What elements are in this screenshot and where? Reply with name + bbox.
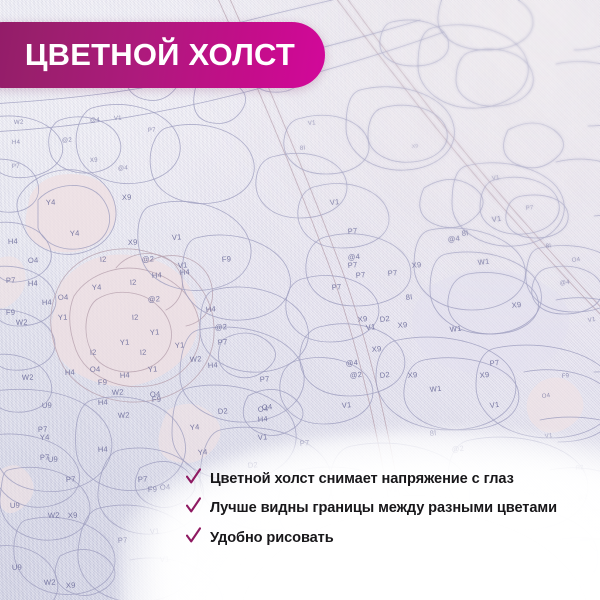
region-code: H4: [98, 444, 109, 454]
region-code: @4: [347, 252, 360, 262]
region-code: X9: [511, 300, 522, 310]
feature-label: Удобно рисовать: [210, 529, 334, 547]
feature-item: Удобно рисовать: [186, 525, 586, 547]
region-code: P7: [489, 358, 500, 368]
check-icon: [186, 468, 201, 485]
region-code: Y1: [175, 340, 185, 350]
region-code: V1: [365, 322, 376, 332]
region-code: P7: [148, 127, 157, 134]
region-code: X9: [68, 511, 78, 520]
region-code: U9: [12, 563, 22, 572]
region-code: W2: [112, 387, 124, 397]
region-code: F9: [6, 308, 16, 317]
banner-pill: ЦВЕТНОЙ ХОЛСТ: [0, 22, 325, 88]
region-code: I2: [100, 255, 107, 264]
region-code: @2: [142, 254, 155, 264]
region-code: O4: [28, 256, 39, 265]
region-code: F9: [561, 372, 570, 380]
region-code: @2: [214, 322, 227, 332]
region-code: O4: [261, 402, 272, 412]
check-icon: [186, 497, 201, 514]
region-code: U9: [10, 501, 20, 510]
region-code: V1: [544, 432, 553, 440]
region-code: Y4: [198, 447, 208, 457]
feature-label: Лучше видны границы между разными цветам…: [210, 499, 557, 517]
region-code: @2: [451, 444, 464, 454]
region-code: Y4: [46, 198, 56, 207]
region-code: Y1: [148, 364, 158, 374]
region-code: W1: [477, 257, 490, 267]
region-code: X9: [411, 260, 422, 270]
region-code: W2: [14, 119, 24, 126]
region-code: X9: [479, 370, 490, 380]
region-code: Y4: [40, 433, 50, 442]
region-code: Y4: [70, 229, 80, 238]
feature-item: Лучше видны границы между разными цветам…: [186, 495, 586, 517]
region-code: V1: [341, 400, 352, 410]
region-code: O4: [541, 392, 551, 400]
region-code: @2: [62, 137, 73, 144]
region-code: W2: [44, 578, 56, 587]
region-code: U9: [42, 401, 52, 410]
region-code: Y1: [150, 327, 160, 337]
check-icon: [186, 527, 201, 544]
region-code: X9: [397, 320, 408, 330]
region-code: H4: [180, 267, 191, 277]
region-code: P7: [118, 535, 128, 545]
region-code: 8I: [545, 242, 551, 250]
region-code: H4: [207, 360, 218, 370]
region-code: O4: [571, 256, 581, 264]
region-code: D2: [217, 406, 228, 416]
region-code: Y4: [92, 283, 102, 292]
region-code: W2: [118, 410, 130, 420]
region-code: V1: [150, 526, 160, 536]
banner-title: ЦВЕТНОЙ ХОЛСТ: [25, 39, 295, 70]
region-code: V1: [329, 197, 339, 207]
region-code: X9: [90, 157, 99, 164]
region-code: P7: [331, 282, 341, 292]
region-code: D2: [379, 370, 390, 380]
region-code: H4: [257, 414, 268, 424]
region-code: @2: [148, 294, 161, 304]
region-code: P7: [299, 438, 309, 448]
region-code: O4: [58, 293, 69, 302]
region-code: P7: [6, 276, 16, 285]
region-code: W2: [22, 373, 34, 382]
region-code: @4: [345, 358, 358, 368]
region-code: I2: [140, 348, 147, 357]
region-code: V1: [160, 554, 170, 564]
region-code: O4: [150, 389, 161, 399]
region-code: P7: [138, 474, 148, 484]
region-code: O4: [160, 482, 171, 492]
feature-label: Цветной холст снимает напряжение с глаз: [210, 470, 514, 488]
region-code: W2: [48, 510, 60, 520]
region-code: P7: [525, 204, 534, 212]
region-code: X9: [122, 192, 132, 202]
region-code: V1: [308, 119, 317, 127]
region-code: H4: [42, 298, 52, 307]
region-code: 8I: [405, 292, 413, 302]
region-code: P7: [40, 453, 50, 462]
region-code: Y1: [58, 313, 68, 322]
region-code: Y1: [120, 337, 130, 347]
region-code: H4: [28, 279, 38, 288]
region-code: D2: [379, 314, 390, 324]
region-code: X9: [412, 143, 419, 150]
region-code: @4: [118, 164, 129, 172]
region-code: P7: [66, 475, 76, 484]
region-code: P7: [347, 226, 358, 236]
region-code: 8I: [300, 145, 306, 152]
region-code: P7: [12, 163, 21, 170]
region-code: O4: [90, 364, 101, 374]
region-code: W1: [429, 384, 442, 394]
region-code: @2: [349, 370, 362, 380]
region-code: H4: [205, 304, 216, 314]
region-code: F9: [148, 484, 158, 494]
region-code: W2: [16, 318, 28, 327]
region-code: 8I: [429, 428, 437, 438]
region-code: V1: [257, 432, 267, 442]
region-code: P7: [355, 270, 366, 280]
region-code: @4: [447, 234, 460, 244]
region-code: P7: [387, 268, 398, 278]
feature-list: Цветной холст снимает напряжение с глаз …: [186, 466, 586, 554]
region-code: H4: [152, 270, 163, 280]
region-code: V1: [587, 316, 596, 324]
region-code: @4: [90, 116, 101, 124]
region-code: I2: [130, 278, 137, 287]
region-code: H4: [98, 397, 109, 407]
region-code: P7: [259, 374, 269, 384]
region-code: X9: [128, 237, 138, 247]
region-code: F9: [98, 378, 108, 387]
region-code: W1: [449, 324, 462, 334]
region-code: I2: [90, 348, 97, 357]
region-code: P7: [217, 337, 227, 347]
region-code: X9: [371, 344, 382, 354]
region-code: H4: [12, 139, 21, 146]
region-code: V1: [172, 232, 182, 242]
region-code: V1: [491, 214, 502, 224]
region-code: I2: [132, 313, 139, 322]
region-code: V1: [114, 115, 123, 122]
region-code: Y4: [190, 422, 200, 432]
region-code: W2: [190, 354, 202, 364]
region-code: V1: [491, 174, 500, 182]
feature-item: Цветной холст снимает напряжение с глаз: [186, 466, 586, 488]
product-image-card: W2H4P7Y4Y4H4O4P7H4Y4H4O4F9W2Y1I2I2I2I2I2…: [0, 0, 600, 600]
region-code: H4: [120, 370, 131, 380]
region-code: H4: [65, 368, 76, 377]
region-code: F9: [221, 254, 231, 264]
region-code: H4: [8, 237, 18, 246]
region-code: 8I: [461, 228, 469, 238]
region-code: @4: [559, 279, 570, 287]
region-code: V1: [489, 400, 500, 410]
region-code: X9: [66, 581, 76, 590]
region-code: X9: [407, 370, 418, 380]
